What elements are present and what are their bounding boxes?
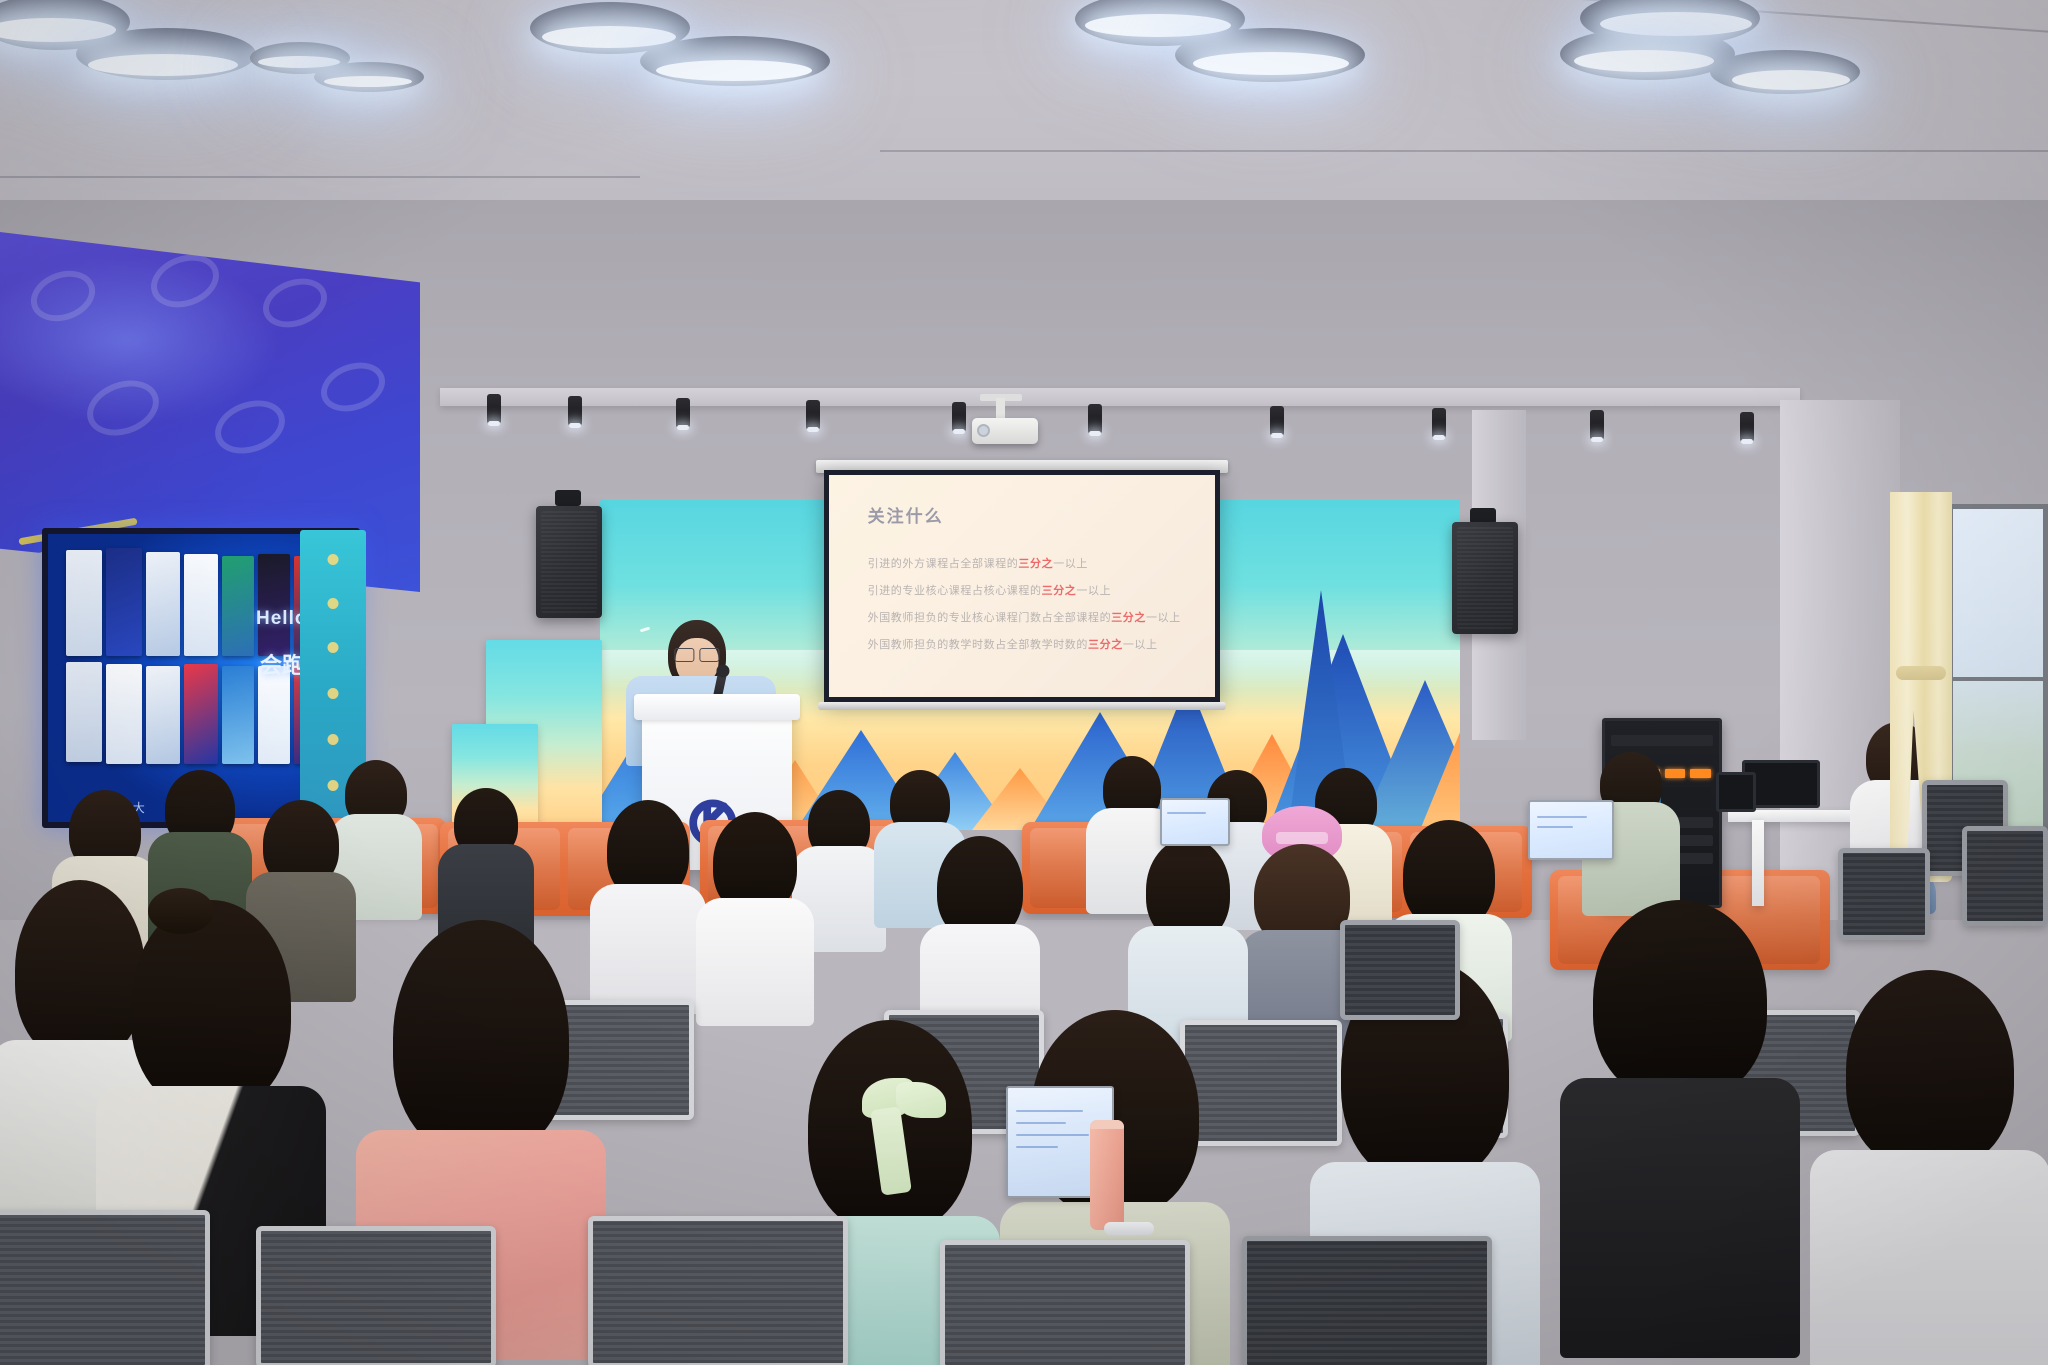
spot-light bbox=[487, 394, 501, 424]
slide-bullet-2-hl: 三分之 bbox=[1042, 585, 1077, 597]
ceiling-lamp bbox=[0, 0, 280, 104]
spot-light bbox=[806, 400, 820, 430]
slide-bullet-2: 引进的专业核心课程占核心课程的三分之一以上 bbox=[868, 582, 1200, 598]
speaker-bracket bbox=[555, 490, 581, 506]
spot-light bbox=[952, 402, 966, 432]
slide-bullet-4-pre: 外国教师担负的教学时数占全部教学时数的 bbox=[868, 639, 1088, 651]
office-chair bbox=[256, 1226, 496, 1365]
audience-person-foreground bbox=[1810, 970, 2048, 1365]
presentation-slide: 关注什么 引进的外方课程占全部课程的三分之一以上 引进的专业核心课程占核心课程的… bbox=[829, 475, 1215, 697]
projector-lens bbox=[977, 424, 990, 437]
slide-body: 引进的外方课程占全部课程的三分之一以上 引进的专业核心课程占核心课程的三分之一以… bbox=[868, 555, 1200, 663]
curtain-tieback bbox=[1896, 666, 1946, 680]
laptop-screen[interactable] bbox=[1528, 800, 1614, 860]
slide-bullet-1: 引进的外方课程占全部课程的三分之一以上 bbox=[868, 555, 1200, 571]
office-chair bbox=[1838, 848, 1930, 940]
slide-bullet-2-post: 一以上 bbox=[1076, 585, 1111, 597]
slide-bullet-4-hl: 三分之 bbox=[1088, 639, 1123, 651]
led-chinese-text: 会跑 bbox=[260, 648, 304, 680]
audience-person-foreground bbox=[1560, 900, 1800, 1350]
spot-light bbox=[676, 398, 690, 428]
slide-bullet-3: 外国教师担负的专业核心课程门数占全部课程的三分之一以上 bbox=[868, 609, 1200, 625]
hair-bow bbox=[862, 1078, 954, 1198]
slide-bullet-2-pre: 引进的专业核心课程占核心课程的 bbox=[868, 585, 1042, 597]
office-chair bbox=[1242, 1236, 1492, 1365]
office-chair bbox=[940, 1240, 1190, 1365]
wall-speaker-right bbox=[1452, 522, 1518, 634]
ceiling-lamp bbox=[1560, 0, 1880, 120]
spot-light bbox=[1088, 404, 1102, 434]
projection-screen-bottom-bar bbox=[818, 702, 1226, 710]
slide-bullet-3-hl: 三分之 bbox=[1111, 612, 1146, 624]
ceiling-seam bbox=[0, 176, 640, 178]
slide-title: 关注什么 bbox=[868, 502, 944, 527]
ceiling-lamp bbox=[1075, 0, 1375, 122]
ceiling-projector bbox=[972, 418, 1038, 444]
ceiling-soffit bbox=[440, 388, 1800, 406]
audience-person bbox=[590, 800, 706, 1000]
audience-person bbox=[696, 812, 814, 1012]
glasses-icon bbox=[674, 648, 719, 660]
slide-bullet-4: 外国教师担负的教学时数占全部教学时数的三分之一以上 bbox=[868, 636, 1200, 652]
chair-armrest bbox=[1104, 1222, 1154, 1235]
ceiling-lamp bbox=[250, 42, 430, 102]
slide-bullet-3-post: 一以上 bbox=[1146, 612, 1181, 624]
slide-bullet-1-post: 一以上 bbox=[1053, 558, 1088, 570]
slide-bullet-1-pre: 引进的外方课程占全部课程的 bbox=[868, 558, 1019, 570]
spot-light bbox=[1740, 412, 1754, 442]
thermos-bottle bbox=[1090, 1120, 1124, 1230]
spot-light bbox=[1590, 410, 1604, 440]
audience-person bbox=[438, 788, 534, 938]
control-monitor bbox=[1716, 772, 1756, 812]
spot-light bbox=[1270, 406, 1284, 436]
control-desk-leg bbox=[1752, 820, 1764, 906]
office-chair bbox=[0, 1210, 210, 1365]
office-chair bbox=[1340, 920, 1460, 1020]
projection-screen: 关注什么 引进的外方课程占全部课程的三分之一以上 引进的专业核心课程占核心课程的… bbox=[824, 470, 1220, 702]
ceiling-lamp bbox=[530, 0, 840, 114]
spot-light bbox=[1432, 408, 1446, 438]
slide-bullet-1-hl: 三分之 bbox=[1018, 558, 1053, 570]
podium-top bbox=[634, 694, 800, 720]
office-chair bbox=[1962, 826, 2048, 926]
slide-bullet-4-post: 一以上 bbox=[1123, 639, 1158, 651]
spot-light bbox=[568, 396, 582, 426]
lecture-hall-photo: Hello 会跑 时界这么大 关注什么 bbox=[0, 0, 2048, 1365]
office-chair bbox=[588, 1216, 848, 1365]
laptop-screen[interactable] bbox=[1160, 798, 1230, 846]
wall-speaker-left bbox=[536, 506, 602, 618]
ceiling-seam bbox=[880, 150, 2048, 152]
slide-bullet-3-pre: 外国教师担负的专业核心课程门数占全部课程的 bbox=[868, 612, 1112, 624]
